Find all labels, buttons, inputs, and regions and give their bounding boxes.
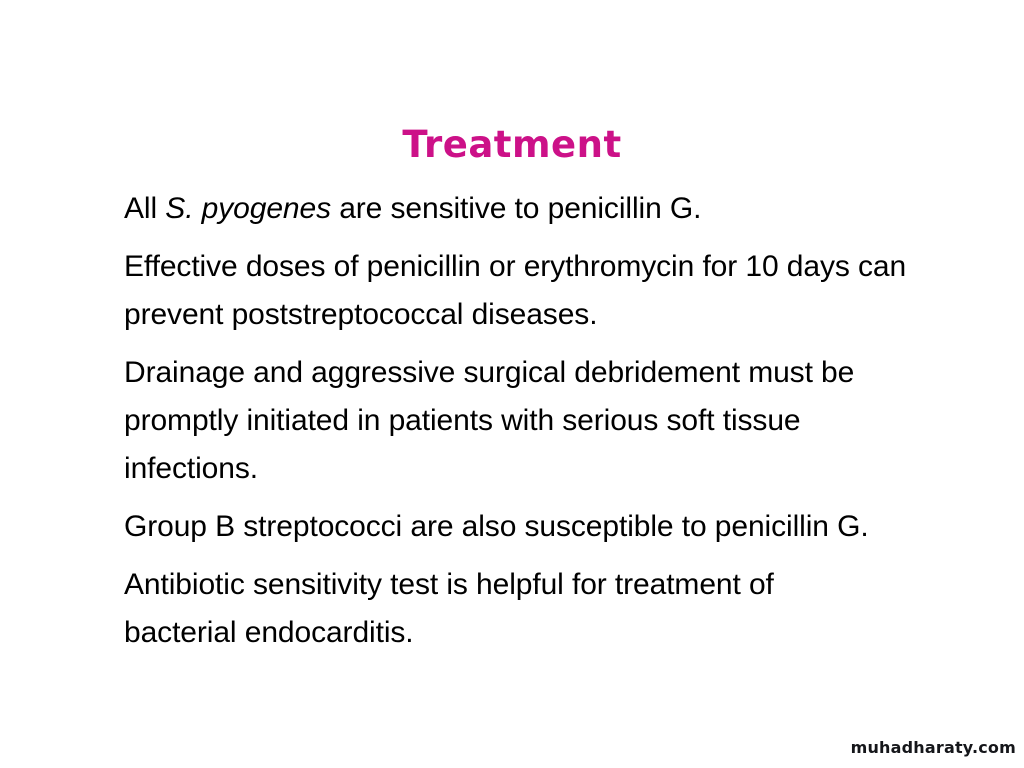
paragraph-1-lead-text: All	[124, 192, 165, 225]
paragraph-1-tail-text: are sensitive to penicillin G.	[331, 192, 701, 225]
slide-canvas: Treatment All S. pyogenes are sensitive …	[0, 0, 1024, 768]
body-paragraph-1: All S. pyogenes are sensitive to penicil…	[124, 185, 914, 233]
body-paragraph-2: Effective doses of penicillin or erythro…	[124, 243, 924, 339]
slide-body: All S. pyogenes are sensitive to penicil…	[124, 185, 944, 657]
paragraph-1-species-name-italic: S. pyogenes	[165, 192, 331, 225]
body-paragraph-3: Drainage and aggressive surgical debride…	[124, 349, 914, 493]
body-paragraph-5: Antibiotic sensitivity test is helpful f…	[124, 561, 854, 657]
page-title: Treatment	[0, 123, 1024, 167]
footer-watermark: muhadharaty.com	[851, 738, 1016, 758]
body-paragraph-4: Group B streptococci are also susceptibl…	[124, 503, 944, 551]
